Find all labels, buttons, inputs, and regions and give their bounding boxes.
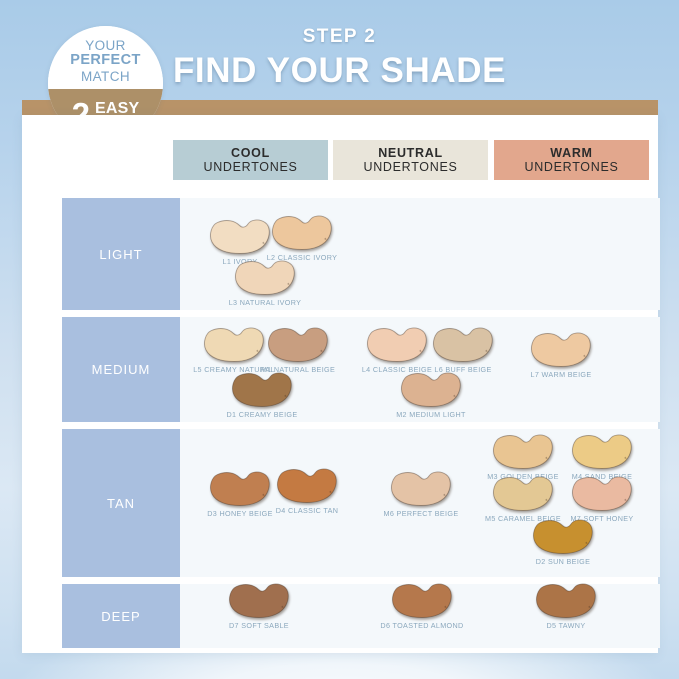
- shade-swatch-l6[interactable]: L6 BUFF BEIGE: [432, 326, 494, 374]
- foundation-blob-icon: [571, 475, 633, 511]
- shade-swatch-l3[interactable]: L3 NATURAL IVORY: [234, 259, 296, 307]
- foundation-blob-icon: [203, 326, 265, 362]
- foundation-blob-icon: [271, 214, 333, 250]
- row-label-text: MEDIUM: [92, 362, 151, 377]
- shade-name-label: M2 MEDIUM LIGHT: [380, 410, 482, 419]
- foundation-blob-icon: [530, 331, 592, 367]
- shade-swatch-m5[interactable]: M5 CARAMEL BEIGE: [492, 475, 554, 523]
- foundation-blob-icon: [400, 371, 462, 407]
- badge-word-easy: EASY: [95, 102, 139, 116]
- shade-name-label: D7 SOFT SABLE: [208, 621, 310, 630]
- shade-name-label: D5 TAWNY: [515, 621, 617, 630]
- badge-line-your: YOUR: [85, 38, 126, 54]
- shade-name-label: M6 PERFECT BEIGE: [370, 509, 472, 518]
- shade-name-label: L7 WARM BEIGE: [510, 370, 612, 379]
- foundation-blob-icon: [535, 582, 597, 618]
- row-label-deep: DEEP: [62, 584, 180, 648]
- undertone-sublabel: UNDERTONES: [363, 160, 457, 175]
- foundation-blob-icon: [571, 433, 633, 469]
- foundation-blob-icon: [267, 326, 329, 362]
- foundation-blob-icon: [276, 467, 338, 503]
- shade-swatch-m1[interactable]: M1 NATURAL BEIGE: [267, 326, 329, 374]
- shade-swatch-l2[interactable]: L2 CLASSIC IVORY: [271, 214, 333, 262]
- shade-swatch-d2[interactable]: D2 SUN BEIGE: [532, 518, 594, 566]
- shade-name-label: D1 CREAMY BEIGE: [211, 410, 313, 419]
- shade-swatch-d4[interactable]: D4 CLASSIC TAN: [276, 467, 338, 515]
- foundation-blob-icon: [228, 582, 290, 618]
- row-label-text: DEEP: [101, 609, 140, 624]
- foundation-blob-icon: [492, 433, 554, 469]
- shade-name-label: D2 SUN BEIGE: [512, 557, 614, 566]
- undertone-name: COOL: [231, 146, 270, 161]
- row-label-text: LIGHT: [99, 247, 142, 262]
- shade-chart-card: COOLUNDERTONESNEUTRALUNDERTONESWARMUNDER…: [22, 115, 658, 653]
- undertone-sublabel: UNDERTONES: [203, 160, 297, 175]
- row-label-text: TAN: [107, 496, 135, 511]
- foundation-blob-icon: [391, 582, 453, 618]
- undertone-header-cool: COOLUNDERTONES: [173, 140, 328, 180]
- foundation-blob-icon: [492, 475, 554, 511]
- shade-name-label: L3 NATURAL IVORY: [214, 298, 316, 307]
- shade-swatch-m6[interactable]: M6 PERFECT BEIGE: [390, 470, 452, 518]
- badge-line-perfect: PERFECT: [70, 53, 140, 69]
- shade-swatch-d5[interactable]: D5 TAWNY: [535, 582, 597, 630]
- foundation-blob-icon: [209, 218, 271, 254]
- shade-swatch-m4[interactable]: M4 SAND BEIGE: [571, 433, 633, 481]
- foundation-blob-icon: [432, 326, 494, 362]
- foundation-blob-icon: [390, 470, 452, 506]
- shade-name-label: D4 CLASSIC TAN: [256, 506, 358, 515]
- badge-line-match: MATCH: [81, 69, 130, 85]
- row-label-tan: TAN: [62, 429, 180, 577]
- foundation-blob-icon: [366, 326, 428, 362]
- shade-swatch-m2[interactable]: M2 MEDIUM LIGHT: [400, 371, 462, 419]
- foundation-blob-icon: [532, 518, 594, 554]
- row-label-medium: MEDIUM: [62, 317, 180, 422]
- shade-swatch-d6[interactable]: D6 TOASTED ALMOND: [391, 582, 453, 630]
- foundation-blob-icon: [231, 371, 293, 407]
- foundation-blob-icon: [234, 259, 296, 295]
- row-label-light: LIGHT: [62, 198, 180, 310]
- foundation-blob-icon: [209, 470, 271, 506]
- shade-swatch-d1[interactable]: D1 CREAMY BEIGE: [231, 371, 293, 419]
- shade-swatch-m3[interactable]: M3 GOLDEN BEIGE: [492, 433, 554, 481]
- shade-swatch-d7[interactable]: D7 SOFT SABLE: [228, 582, 290, 630]
- undertone-sublabel: UNDERTONES: [524, 160, 618, 175]
- badge-top: YOUR PERFECT MATCH: [48, 26, 163, 89]
- shade-name-label: D6 TOASTED ALMOND: [371, 621, 473, 630]
- undertone-header-warm: WARMUNDERTONES: [494, 140, 649, 180]
- undertone-name: WARM: [550, 146, 592, 161]
- shade-swatch-l7[interactable]: L7 WARM BEIGE: [530, 331, 592, 379]
- shade-swatch-m7[interactable]: M7 SOFT HONEY: [571, 475, 633, 523]
- undertone-name: NEUTRAL: [378, 146, 443, 161]
- undertone-header-neutral: NEUTRALUNDERTONES: [333, 140, 488, 180]
